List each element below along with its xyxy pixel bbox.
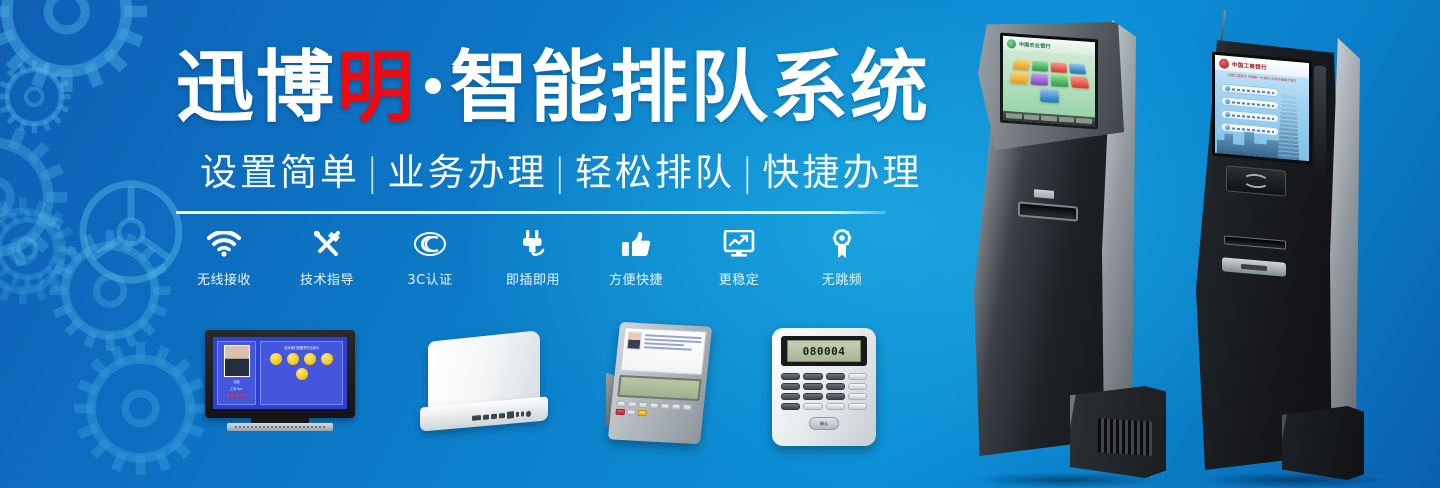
power-plug-icon xyxy=(489,226,577,262)
kiosk-screen[interactable]: 中国工商银行 中国工商银行 中国第一大银行 全球市值最大银行 xyxy=(1212,52,1312,165)
footer-button[interactable] xyxy=(1041,115,1057,121)
key-yellow[interactable] xyxy=(637,410,647,416)
key[interactable] xyxy=(660,403,670,409)
key[interactable] xyxy=(826,403,845,410)
bank-logo-icon xyxy=(1219,58,1229,69)
star xyxy=(235,394,238,397)
subtitle-sep-1: | xyxy=(366,151,381,194)
feature-list: 无线接收 技术指导 3C认证 xyxy=(180,226,886,292)
feature-label: 方便快捷 xyxy=(592,269,680,288)
rating-prompt: 请对我们的服务作出评价 xyxy=(284,345,319,350)
feature-label: 3C认证 xyxy=(386,269,474,288)
subtitle-sep-2: | xyxy=(553,151,568,194)
star-rating xyxy=(227,394,246,397)
kiosk-screen-header: 中国农业银行 xyxy=(1003,36,1095,56)
emoji-rating-faces xyxy=(263,353,340,380)
subtitle-item-4: 快捷办理 xyxy=(762,151,922,194)
key[interactable] xyxy=(616,401,626,407)
ccc-certification-icon xyxy=(386,226,474,262)
emoji-face[interactable] xyxy=(287,353,299,365)
feature-technical-guidance: 技术指导 xyxy=(283,226,371,288)
key[interactable] xyxy=(781,403,800,410)
feature-no-frequency-hopping: 无跳频 xyxy=(798,226,886,288)
printer-icon xyxy=(1034,189,1054,199)
port xyxy=(499,413,505,419)
emoji-face[interactable] xyxy=(296,368,308,380)
thumbs-up-icon xyxy=(592,226,680,262)
key[interactable] xyxy=(781,393,800,400)
menu-item-corporate-query[interactable] xyxy=(1221,109,1279,123)
port xyxy=(521,411,524,416)
feature-wireless: 无线接收 xyxy=(180,226,268,288)
feature-label: 更稳定 xyxy=(695,269,783,288)
key[interactable] xyxy=(826,383,845,390)
feature-label: 无跳频 xyxy=(798,269,886,288)
key[interactable] xyxy=(803,373,822,380)
key[interactable] xyxy=(781,383,800,390)
key[interactable] xyxy=(638,402,648,408)
key[interactable] xyxy=(826,373,845,380)
key[interactable] xyxy=(803,383,822,390)
kiosk-screen-ui: 中国工商银行 中国工商银行 中国第一大银行 全球市值最大银行 xyxy=(1215,55,1309,161)
staff-name: 张璐 xyxy=(234,380,240,384)
emoji-face[interactable] xyxy=(270,353,282,365)
staff-photo xyxy=(626,331,642,350)
kiosk-screen-ui: 中国农业银行 xyxy=(1003,36,1095,126)
key[interactable] xyxy=(649,402,659,408)
subtitle-item-3: 轻松排队 xyxy=(575,151,735,194)
star xyxy=(227,394,230,397)
footer-button[interactable] xyxy=(1006,113,1022,119)
key[interactable] xyxy=(848,373,867,380)
star xyxy=(243,394,246,397)
subtitle-sep-3: | xyxy=(741,151,756,194)
bank-logo-icon xyxy=(1007,39,1016,49)
port xyxy=(516,412,519,417)
feature-convenient: 方便快捷 xyxy=(592,226,680,288)
staff-id: 工号 001 xyxy=(230,387,243,391)
keypad-button-grid[interactable] xyxy=(781,373,867,410)
bank-name: 中国工商银行 xyxy=(1232,60,1267,71)
horizontal-divider xyxy=(176,211,886,214)
product-multimedia-kiosk: 中国工商银行 中国工商银行 中国第一大银行 全球市值最大银行 xyxy=(1178,10,1393,488)
wifi-icon xyxy=(180,226,268,262)
service-tile[interactable] xyxy=(1009,72,1028,84)
key[interactable] xyxy=(826,393,845,400)
key[interactable] xyxy=(848,403,867,410)
monitor-base xyxy=(227,423,333,431)
service-tile[interactable] xyxy=(1050,75,1068,88)
star xyxy=(231,394,234,397)
page-title: 迅博明智能排队系统 xyxy=(176,40,896,136)
lcd-number: 080004 xyxy=(803,345,846,358)
service-tile[interactable] xyxy=(1050,62,1066,73)
base-vent-grille xyxy=(1098,418,1152,456)
key[interactable] xyxy=(682,404,692,410)
footer-button[interactable] xyxy=(1024,114,1040,120)
rating-panel: 请对我们的服务作出评价 xyxy=(260,341,343,405)
feature-label: 即插即用 xyxy=(489,269,577,288)
title-part-2: 智能排队系统 xyxy=(450,43,930,133)
key[interactable] xyxy=(803,403,822,410)
service-tile[interactable] xyxy=(1012,60,1029,71)
evaluator-body xyxy=(608,322,712,444)
key[interactable] xyxy=(848,383,867,390)
menu-item-self-registration[interactable] xyxy=(1221,96,1279,110)
subtitle: 设置简单|业务办理|轻松排队|快捷办理 xyxy=(200,148,900,198)
award-ribbon-icon xyxy=(798,226,886,262)
service-tile-grid[interactable] xyxy=(1005,60,1092,106)
product-queue-ticket-kiosk: 中国农业银行 xyxy=(952,14,1182,488)
promotional-banner: 迅博明智能排队系统 设置简单|业务办理|轻松排队|快捷办理 无线接收 xyxy=(0,0,1440,488)
footer-button[interactable] xyxy=(1059,117,1075,123)
key[interactable] xyxy=(848,393,867,400)
staff-card xyxy=(620,327,707,375)
service-tile[interactable] xyxy=(1070,76,1089,89)
evaluator-keypad[interactable] xyxy=(615,401,698,419)
key[interactable] xyxy=(781,373,800,380)
feature-3c-certification: 3C认证 xyxy=(386,226,474,288)
staff-card-text xyxy=(641,332,702,371)
service-tile[interactable] xyxy=(1039,88,1058,103)
title-highlight: 明 xyxy=(336,43,416,133)
port xyxy=(483,414,489,420)
port xyxy=(507,411,514,419)
bank-name: 中国农业银行 xyxy=(1019,40,1051,49)
feature-label: 无线接收 xyxy=(180,269,268,288)
tools-icon xyxy=(283,226,371,262)
staff-photo xyxy=(224,345,250,377)
monitor-chart-icon xyxy=(695,226,783,262)
keypad-body: 080004 确认 xyxy=(772,328,876,446)
kiosk-menu-list[interactable] xyxy=(1221,83,1279,136)
power-port xyxy=(526,410,531,416)
monitor-screen: 张璐 工号 001 请对我们的服务作出评价 xyxy=(213,337,347,409)
text-line xyxy=(644,346,693,351)
feature-label: 技术指导 xyxy=(283,269,371,288)
port xyxy=(472,415,481,421)
title-dot-separator xyxy=(425,78,441,94)
keypad-lcd-frame: 080004 xyxy=(781,336,867,366)
key-red[interactable] xyxy=(615,409,625,415)
key[interactable] xyxy=(626,409,636,415)
evaluator-lcd xyxy=(617,375,701,401)
staff-info-panel: 张璐 工号 001 xyxy=(217,341,256,405)
service-tile[interactable] xyxy=(1031,61,1047,72)
plate-label xyxy=(1241,263,1267,270)
kiosk-base xyxy=(1282,406,1364,480)
footer-button[interactable] xyxy=(1076,118,1092,124)
star xyxy=(239,394,242,397)
key[interactable] xyxy=(627,401,637,407)
monitor-bezel: 张璐 工号 001 请对我们的服务作出评价 xyxy=(205,330,355,418)
title-part-1: 迅博 xyxy=(176,43,336,133)
product-evaluation-monitor: 张璐 工号 001 请对我们的服务作出评价 xyxy=(205,330,355,432)
feature-more-stable: 更稳定 xyxy=(695,226,783,288)
contactless-wave-icon xyxy=(1243,173,1269,189)
service-tile[interactable] xyxy=(1030,73,1048,86)
feature-plug-and-play: 即插即用 xyxy=(489,226,577,288)
side-vent xyxy=(1314,65,1326,176)
card-reader[interactable] xyxy=(1226,165,1286,196)
product-showcase: 张璐 工号 001 请对我们的服务作出评价 xyxy=(0,312,940,452)
product-calling-keypad: 080004 确认 xyxy=(772,328,876,446)
enter-button[interactable]: 确认 xyxy=(809,417,839,430)
service-tile[interactable] xyxy=(1068,63,1085,74)
menu-item-personal-online-banking[interactable] xyxy=(1221,83,1279,97)
product-wireless-host xyxy=(420,336,548,434)
product-desk-evaluator xyxy=(600,320,718,448)
keypad-lcd: 080004 xyxy=(787,340,861,362)
key[interactable] xyxy=(671,404,681,410)
emoji-face[interactable] xyxy=(321,353,333,365)
key[interactable] xyxy=(803,393,822,400)
kiosk-screen[interactable]: 中国农业银行 xyxy=(1000,33,1098,130)
subtitle-item-2: 业务办理 xyxy=(387,151,547,194)
port xyxy=(491,414,497,420)
emoji-face[interactable] xyxy=(304,353,316,365)
subtitle-item-1: 设置简单 xyxy=(200,151,360,194)
